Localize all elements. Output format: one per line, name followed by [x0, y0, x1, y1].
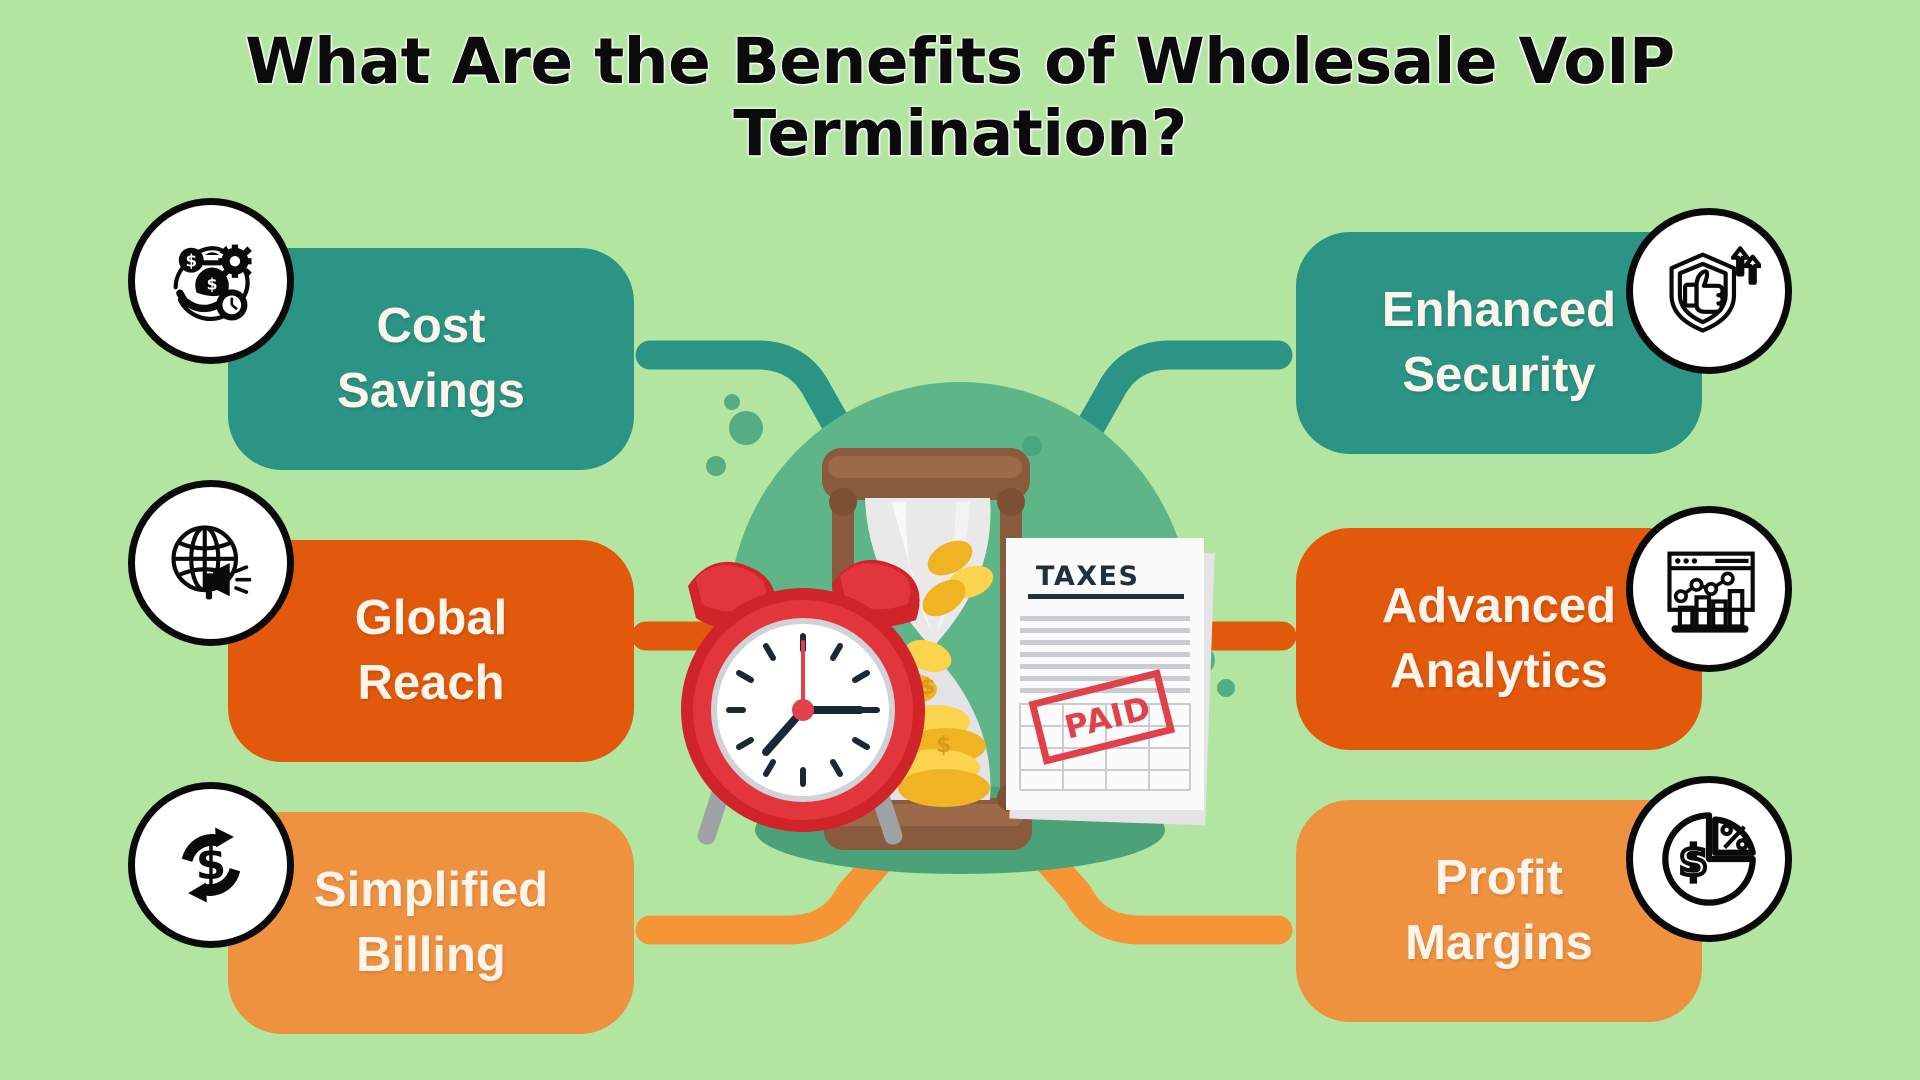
- benefit-icon-profit-margins[interactable]: $: [1626, 776, 1792, 942]
- benefit-label-line2: Analytics: [1390, 639, 1608, 704]
- svg-text:$: $: [1679, 837, 1708, 886]
- svg-text:$: $: [185, 251, 197, 270]
- taxes-document: TAXES PAID: [1006, 538, 1215, 825]
- benefit-label-line1: Simplified: [314, 858, 548, 923]
- benefit-label-line2: Billing: [356, 923, 506, 988]
- page-title: What Are the Benefits of Wholesale VoIP …: [0, 26, 1920, 170]
- dollar-refresh-icon: $: [159, 813, 263, 917]
- benefit-label-line1: Cost: [377, 294, 486, 359]
- shield-thumbsup-icon: [1657, 239, 1761, 343]
- taxes-heading: TAXES: [1036, 561, 1139, 592]
- benefit-label-line1: Enhanced: [1382, 278, 1616, 343]
- page-title-line-1: What Are the Benefits of Wholesale VoIP: [245, 25, 1674, 98]
- page-title-line-2: Termination?: [733, 97, 1186, 170]
- svg-text:$: $: [207, 275, 218, 293]
- center-illustration: $ $ TAXES PAID: [660, 370, 1260, 930]
- benefit-icon-cost-savings[interactable]: $ $: [128, 198, 294, 364]
- pie-chart-dollar-icon: $: [1657, 807, 1761, 911]
- benefit-label-line1: Advanced: [1382, 574, 1616, 639]
- benefit-icon-simplified-billing[interactable]: $: [128, 782, 294, 948]
- globe-megaphone-icon: [159, 511, 263, 615]
- benefit-label-line1: Global: [355, 586, 507, 651]
- benefit-label-line2: Margins: [1405, 911, 1593, 976]
- money-cycle-icon: $ $: [159, 229, 263, 333]
- benefit-label-line2: Reach: [357, 651, 504, 716]
- svg-text:$: $: [936, 733, 951, 758]
- svg-text:$: $: [196, 839, 226, 890]
- benefit-icon-advanced-analytics[interactable]: [1626, 506, 1792, 672]
- benefit-icon-global-reach[interactable]: [128, 480, 294, 646]
- benefit-label-line2: Savings: [337, 359, 525, 424]
- benefit-icon-enhanced-security[interactable]: [1626, 208, 1792, 374]
- benefit-label-line1: Profit: [1435, 846, 1563, 911]
- benefit-label-line2: Security: [1402, 343, 1595, 408]
- analytics-dashboard-icon: [1657, 537, 1761, 641]
- alarm-clock: [681, 560, 925, 847]
